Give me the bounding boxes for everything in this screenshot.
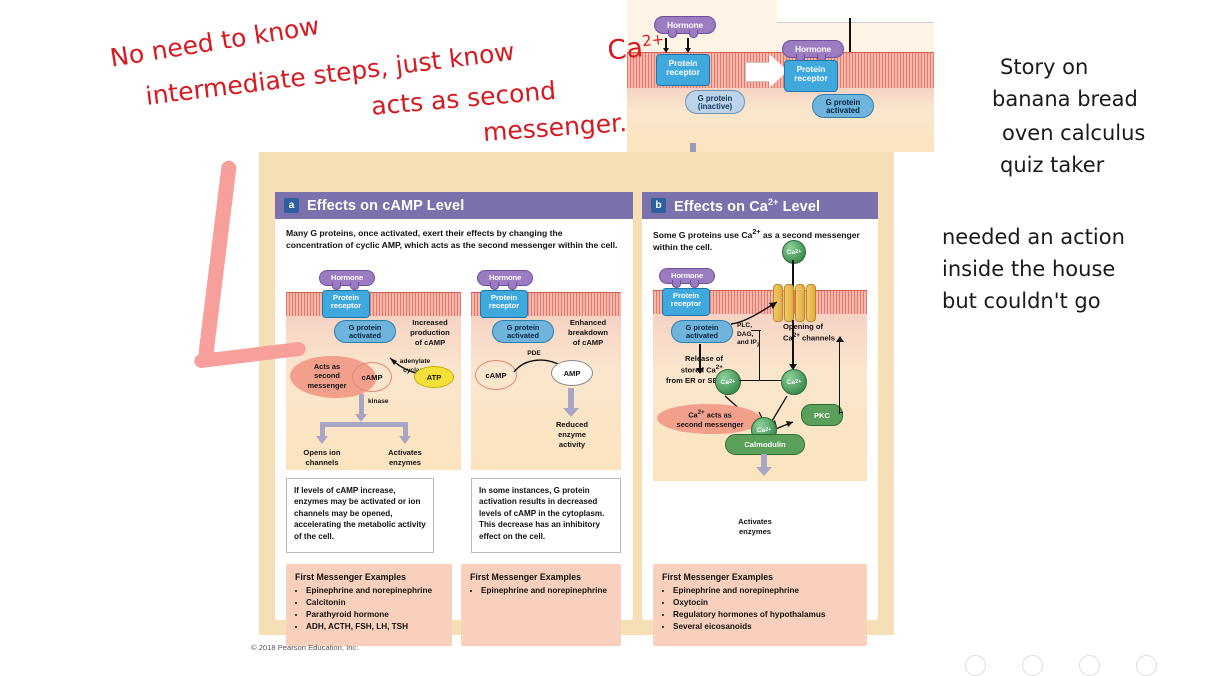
- pink-highlighter-L-mark: [170, 160, 290, 385]
- panel-b-scene: Ca2+ Hormone Protein receptor G protein …: [653, 236, 867, 481]
- panel-b-pkc-oval: PKC: [801, 404, 843, 426]
- panel-a-reduced-enzyme-activity: Reduced enzyme activity: [539, 420, 605, 450]
- panel-a-left-membrane: [286, 292, 461, 318]
- list-item: Calcitonin: [306, 597, 443, 609]
- top-left-arrowhead-2: [685, 48, 691, 53]
- panel-b-plc-elbow: [751, 330, 761, 331]
- black-annotation-line-6: inside the house: [942, 254, 1115, 284]
- panel-a-branch-right-head: [399, 436, 411, 444]
- panel-a-branch-bar: [320, 422, 408, 427]
- panel-b-receptor: Protein receptor: [662, 288, 710, 316]
- panel-a-examples-left-list: Epinephrine and norepinephrine Calcitoni…: [295, 585, 443, 633]
- panel-a-intro: Many G proteins, once activated, exert t…: [286, 227, 618, 251]
- panel-b-messenger-blob-label: Ca2+ acts assecond messenger: [659, 409, 761, 429]
- panel-a-right-note: In some instances, G protein activation …: [471, 478, 621, 553]
- list-item: Epinephrine and norepinephrine: [481, 585, 612, 597]
- panel-b-tag: b: [651, 198, 666, 213]
- panel-a-left-receptor: Protein receptor: [322, 290, 370, 318]
- panel-a-left-note: If levels of cAMP increase, enzymes may …: [286, 478, 434, 553]
- panel-b-examples: First Messenger Examples Epinephrine and…: [653, 564, 867, 646]
- panel-b-gprotein: G protein activated: [671, 320, 733, 343]
- red-annotation-calcium: Ca2+: [606, 30, 666, 67]
- panel-a-reduced-arrow-stem: [568, 388, 574, 410]
- panel-b-influx-arrow: [792, 320, 794, 368]
- list-item: Regulatory hormones of hypothalamus: [673, 609, 858, 621]
- circle-icon-4[interactable]: [1136, 655, 1157, 676]
- panel-a-left-hormone: Hormone: [319, 270, 375, 286]
- panel-b-gprotein-label: G protein activated: [686, 323, 719, 340]
- panel-b-header: b Effects on Ca2+ Level: [642, 192, 878, 219]
- panel-b-hormone: Hormone: [659, 268, 715, 284]
- panel-a-atp-oval: ATP: [414, 366, 454, 388]
- panel-b-plc-label: PLC,DAG,and IP3: [737, 322, 775, 350]
- panel-a-right-hormone: Hormone: [477, 270, 533, 286]
- list-item: ADH, ACTH, FSH, LH, TSH: [306, 621, 443, 633]
- panel-b-activates-arrowhead: [756, 467, 772, 476]
- panel-b-examples-list: Epinephrine and norepinephrine Oxytocin …: [662, 585, 858, 633]
- list-item: Oxytocin: [673, 597, 858, 609]
- list-item: Epinephrine and norepinephrine: [673, 585, 858, 597]
- panel-a-kinase-arrow-stem: [359, 394, 364, 416]
- black-annotation-line-2: banana bread: [992, 84, 1138, 114]
- black-annotation-line-5: needed an action: [942, 222, 1125, 252]
- panel-b-release-label: Release ofstored Ca2+from ER or SER: [653, 354, 723, 386]
- panel-b-calmodulin-oval: Calmodulin: [725, 434, 805, 455]
- panel-b-title: Effects on Ca2+ Level: [674, 197, 820, 215]
- panel-b-pkc-feedback-arrowhead: [836, 336, 844, 342]
- panel-b-extracellular-calcium: Ca2+: [782, 240, 806, 264]
- panel-a-left-scene: Hormone Protein receptor G protein activ…: [286, 270, 461, 470]
- panel-a-reduced-arrowhead: [563, 408, 579, 417]
- top-overview-figure: Hormone Protein receptor G protein (inac…: [627, 0, 934, 152]
- red-annotation-line-4: messenger.: [482, 108, 628, 147]
- panel-a-right-gprotein-label: G protein activated: [507, 323, 540, 340]
- panel-b-receptor-label: Protein receptor: [671, 291, 701, 308]
- panel-a-right-receptor-label: Protein receptor: [489, 293, 519, 310]
- panel-a-right-gprotein: G protein activated: [492, 320, 554, 343]
- panel-a-examples-left: First Messenger Examples Epinephrine and…: [286, 564, 452, 646]
- panel-a-enhanced-breakdown: Enhanced breakdown of cAMP: [557, 318, 619, 348]
- panel-b-activates-enzymes: Activates enzymes: [724, 517, 786, 537]
- black-annotation-line-4: quiz taker: [1000, 150, 1104, 180]
- panel-a-left-receptor-label: Protein receptor: [331, 293, 361, 310]
- black-annotation-line-3: oven calculus: [1002, 118, 1145, 148]
- list-item: Epinephrine and norepinephrine: [306, 585, 443, 597]
- top-right-gprotein: G protein activated: [812, 94, 874, 118]
- panel-b-plc-vertical: [759, 330, 760, 380]
- copyright-notice: © 2018 Pearson Education, Inc.: [251, 643, 358, 652]
- bottom-toolbar[interactable]: [955, 655, 1195, 676]
- panel-b-examples-heading: First Messenger Examples: [662, 572, 858, 582]
- panel-a-branch-left-head: [316, 436, 328, 444]
- panel-b-pkc-feedback-elbow: [839, 412, 843, 413]
- top-left-gprotein: G protein (inactive): [685, 90, 745, 114]
- panel-a-pde-label: PDE: [519, 350, 549, 359]
- circle-icon-2[interactable]: [1022, 655, 1043, 676]
- figure-board: a Effects on cAMP Level Many G proteins,…: [259, 152, 894, 635]
- list-item: Several eicosanoids: [673, 621, 858, 633]
- top-left-receptor-label: Protein receptor: [666, 58, 700, 77]
- black-annotation-line-7: but couldn't go: [942, 286, 1101, 316]
- circle-icon-3[interactable]: [1079, 655, 1100, 676]
- panel-b: b Effects on Ca2+ Level Some G proteins …: [642, 192, 878, 620]
- top-right-hormone-label: Hormone: [782, 40, 844, 58]
- figure-canvas: Hormone Protein receptor G protein (inac…: [0, 0, 1207, 676]
- panel-a-right-receptor: Protein receptor: [480, 290, 528, 318]
- top-right-receptor: Protein receptor: [784, 60, 838, 92]
- panel-a-title: Effects on cAMP Level: [307, 198, 464, 214]
- top-right-receptor-label: Protein receptor: [794, 64, 828, 83]
- panel-a-kinase-arrowhead: [355, 414, 367, 422]
- black-annotation-line-1: Story on: [1000, 52, 1088, 82]
- panel-a-examples-right-heading: First Messenger Examples: [470, 572, 612, 582]
- panel-b-pkc-feedback-line: [839, 340, 840, 414]
- panel-a-header: a Effects on cAMP Level: [275, 192, 633, 219]
- panel-a-right-scene: Hormone Protein receptor G protein activ…: [471, 270, 621, 470]
- panel-a-kinase-label: kinase: [368, 398, 408, 407]
- panel-a-left-gprotein-label: G protein activated: [349, 323, 382, 340]
- panel-a-left-gprotein: G protein activated: [334, 320, 396, 343]
- panel-a-opens-ion-channels: Opens ion channels: [291, 448, 353, 468]
- list-item: Parathyroid hormone: [306, 609, 443, 621]
- top-left-gprotein-label: G protein (inactive): [698, 94, 733, 111]
- top-cytosol: [627, 88, 934, 152]
- panel-b-calcium-link: [739, 380, 781, 381]
- panel-a-activates-enzymes: Activates enzymes: [374, 448, 436, 468]
- panel-a-examples-right: First Messenger Examples Epinephrine and…: [461, 564, 621, 646]
- top-white-strip: [777, 0, 934, 23]
- panel-a-amp-oval: AMP: [551, 360, 593, 386]
- panel-a: a Effects on cAMP Level Many G proteins,…: [275, 192, 633, 620]
- circle-icon-1[interactable]: [965, 655, 986, 676]
- panel-a-examples-right-list: Epinephrine and norepinephrine: [470, 585, 612, 597]
- panel-b-opening-label: Opening ofCa2+ channels: [783, 322, 861, 344]
- panel-a-examples-left-heading: First Messenger Examples: [295, 572, 443, 582]
- top-right-gprotein-label: G protein activated: [826, 98, 861, 115]
